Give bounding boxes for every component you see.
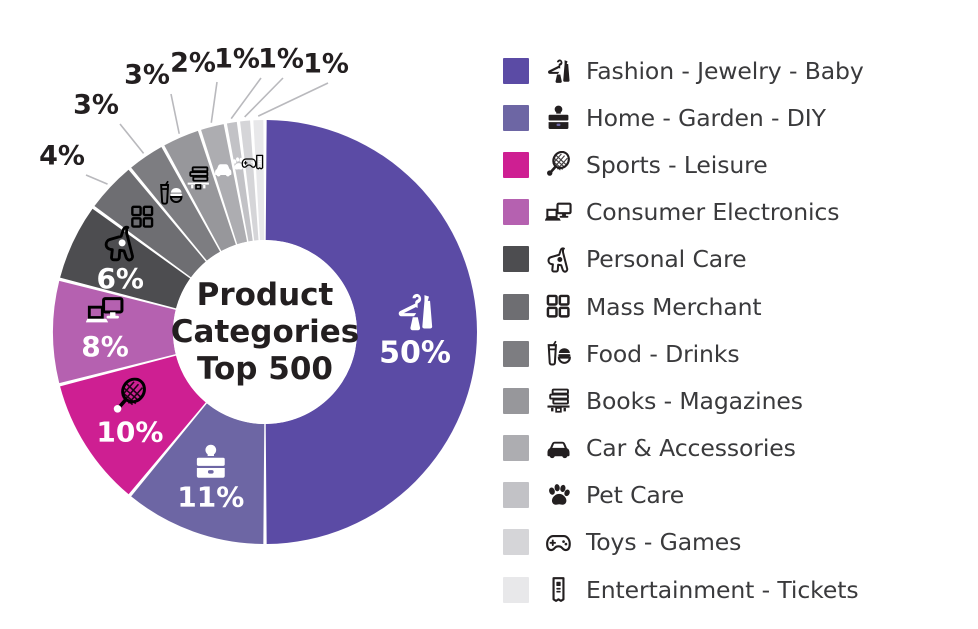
computer-monitor-icon	[541, 197, 575, 227]
clothing-hanger-icon	[541, 56, 575, 86]
hair-dryer-icon	[541, 244, 575, 274]
donut-center-line: Top 500	[197, 351, 333, 387]
callout-value-label: 1%	[258, 44, 304, 75]
legend-color-swatch	[503, 388, 529, 414]
chart-page: 50%11%10%8%6% 4%3%3%2%1%1%1% ProductCate…	[0, 0, 978, 629]
callout-leader-line	[258, 83, 328, 116]
callout-leader-line	[211, 82, 217, 123]
callout-value-label: 3%	[73, 90, 119, 121]
legend-item-label: Fashion - Jewelry - Baby	[586, 57, 864, 85]
chart-legend: Fashion - Jewelry - BabyHome - Garden - …	[503, 47, 975, 613]
callout-value-label: 1%	[214, 44, 260, 75]
donut-center-line: Product	[197, 277, 334, 313]
legend-item-label: Pet Care	[586, 481, 684, 509]
legend-item[interactable]: Books - Magazines	[503, 377, 975, 424]
legend-item-label: Consumer Electronics	[586, 198, 839, 226]
legend-color-swatch	[503, 294, 529, 320]
tennis-racket-icon	[541, 150, 575, 180]
donut-svg: 50%11%10%8%6% 4%3%3%2%1%1%1% ProductCate…	[0, 0, 500, 629]
legend-item[interactable]: Home - Garden - DIY	[503, 94, 975, 141]
grid-squares-icon	[541, 292, 575, 322]
legend-item[interactable]: Sports - Leisure	[503, 141, 975, 188]
slice-value-label: 11%	[177, 481, 244, 514]
books-stack-icon	[541, 386, 575, 416]
slice-value-label: 10%	[96, 416, 163, 449]
legend-item[interactable]: Toys - Games	[503, 519, 975, 566]
callout-leader-line	[231, 78, 261, 119]
slice-value-label: 8%	[81, 330, 129, 363]
legend-color-swatch	[503, 482, 529, 508]
car-icon	[541, 433, 575, 463]
legend-item-label: Books - Magazines	[586, 387, 803, 415]
donut-center-title: ProductCategoriesTop 500	[171, 277, 359, 387]
donut-center-line: Categories	[171, 314, 359, 350]
legend-item[interactable]: Mass Merchant	[503, 283, 975, 330]
legend-item[interactable]: Consumer Electronics	[503, 189, 975, 236]
slice-value-label: 50%	[379, 336, 451, 371]
callout-value-label: 4%	[39, 141, 85, 172]
callout-leader-line	[245, 78, 283, 117]
callout-value-label: 1%	[303, 49, 349, 80]
legend-item[interactable]: Pet Care	[503, 472, 975, 519]
donut-chart: 50%11%10%8%6% 4%3%3%2%1%1%1% ProductCate…	[0, 0, 500, 629]
legend-color-swatch	[503, 58, 529, 84]
legend-item-label: Personal Care	[586, 245, 746, 273]
food-drink-icon	[541, 339, 575, 369]
legend-item-label: Food - Drinks	[586, 340, 740, 368]
legend-item-label: Car & Accessories	[586, 434, 796, 462]
legend-color-swatch	[503, 577, 529, 603]
callout-leader-line	[171, 94, 179, 134]
callout-leader-line	[86, 175, 108, 184]
ticket-icon	[541, 575, 575, 605]
legend-color-swatch	[503, 246, 529, 272]
legend-item-label: Toys - Games	[586, 528, 741, 556]
legend-item-label: Mass Merchant	[586, 293, 762, 321]
paw-print-icon	[541, 480, 575, 510]
callout-leader-line	[120, 124, 144, 153]
legend-color-swatch	[503, 199, 529, 225]
slice-value-label: 6%	[96, 262, 144, 295]
legend-color-swatch	[503, 529, 529, 555]
game-controller-icon	[541, 527, 575, 557]
legend-item[interactable]: Car & Accessories	[503, 425, 975, 472]
legend-item[interactable]: Personal Care	[503, 236, 975, 283]
legend-item[interactable]: Fashion - Jewelry - Baby	[503, 47, 975, 94]
legend-color-swatch	[503, 341, 529, 367]
legend-color-swatch	[503, 105, 529, 131]
legend-item-label: Entertainment - Tickets	[586, 576, 858, 604]
garden-tool-icon	[541, 103, 575, 133]
callout-value-label: 2%	[170, 48, 216, 79]
legend-item[interactable]: Food - Drinks	[503, 330, 975, 377]
legend-item-label: Home - Garden - DIY	[586, 104, 826, 132]
callout-value-label: 3%	[124, 60, 170, 91]
legend-color-swatch	[503, 152, 529, 178]
legend-item-label: Sports - Leisure	[586, 151, 768, 179]
legend-color-swatch	[503, 435, 529, 461]
legend-item[interactable]: Entertainment - Tickets	[503, 566, 975, 613]
